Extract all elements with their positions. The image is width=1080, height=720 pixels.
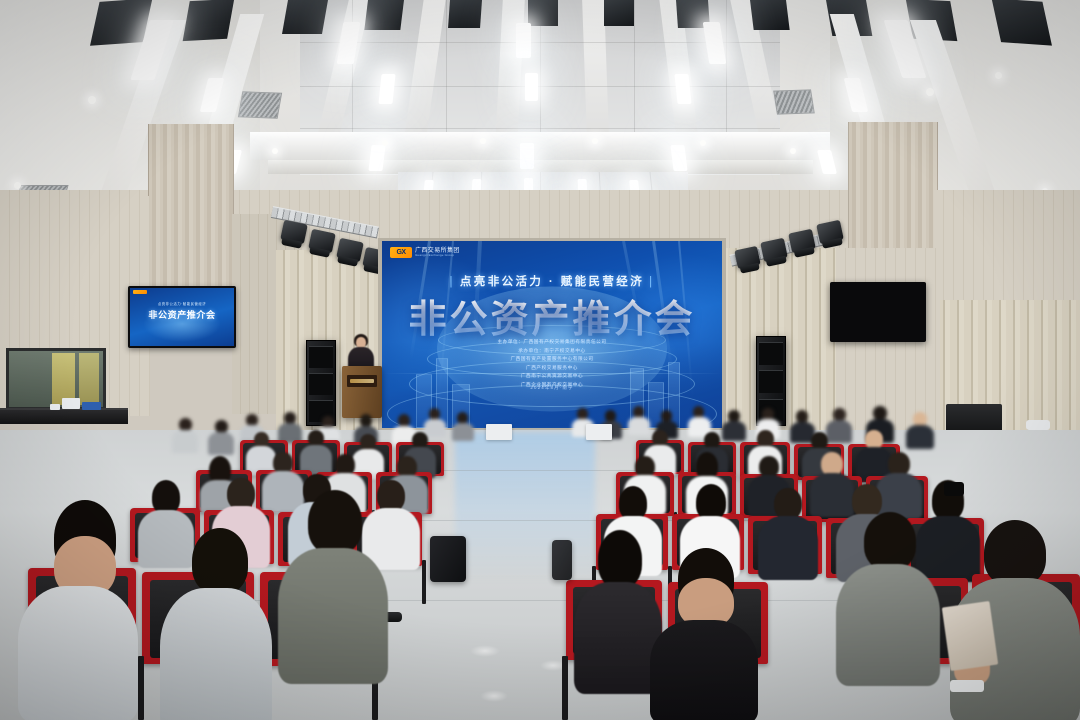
attendee	[160, 528, 272, 720]
stage-spotlight	[308, 229, 336, 254]
conference-hall-photo: GX 广西交易所集团 Guangxi Exchange Group |点亮非公活…	[0, 0, 1080, 720]
equipment-white-box	[50, 404, 60, 410]
ceiling-downlight	[382, 140, 388, 146]
acoustic-baffle	[750, 0, 790, 30]
wall-monitor-right	[830, 282, 926, 342]
attendee-body	[452, 423, 474, 441]
attendee-body	[208, 432, 234, 455]
acoustic-baffle	[992, 0, 1052, 46]
attendee	[172, 418, 198, 452]
ceiling-downlight	[88, 96, 96, 104]
led-stage-screen: GX 广西交易所集团 Guangxi Exchange Group |点亮非公活…	[382, 241, 722, 428]
speaker-driver	[309, 373, 334, 395]
acoustic-baffle	[448, 0, 482, 28]
attendee-head	[873, 406, 887, 420]
wall-monitor-left: 点亮非公活力·赋能民营经济 非公资产推介会	[128, 286, 236, 348]
attendee-body	[836, 564, 940, 686]
brand-name-en: Guangxi Exchange Group	[415, 254, 458, 257]
ceiling-panel-light	[520, 143, 534, 169]
attendee-hair	[864, 512, 916, 570]
seat-leg	[138, 656, 144, 720]
brand-mark-icon: GX	[390, 247, 412, 258]
attendee-hair	[192, 528, 248, 594]
attendee	[452, 412, 474, 440]
stage-spotlight	[734, 246, 760, 269]
attendee-body	[278, 548, 388, 684]
screen-brand-logo: GX 广西交易所集团 Guangxi Exchange Group	[390, 247, 460, 258]
attendee	[906, 412, 934, 448]
paper-document	[942, 601, 998, 671]
attendee-body	[650, 620, 758, 720]
screen-subtitle: 点亮非公活力 · 赋能民营经济	[460, 276, 644, 288]
attendee	[574, 530, 662, 690]
acoustic-baffle	[364, 0, 404, 30]
attendee-hair	[308, 490, 362, 554]
wall-monitor-left-screen: 点亮非公活力·赋能民营经济 非公资产推介会	[130, 288, 234, 346]
organizer-line: 广西南宁公共资源交易中心	[382, 372, 722, 380]
screen-title: 非公资产推介会	[382, 288, 722, 343]
speaker-driver	[759, 342, 784, 365]
air-vent	[773, 89, 815, 114]
window-pane	[79, 353, 100, 405]
wall-monitor-subtitle: 点亮非公活力·赋能民营经济	[130, 301, 234, 306]
control-room-window	[6, 348, 106, 410]
attendee-hair	[619, 486, 647, 520]
screen-subtitle-row: |点亮非公活力 · 赋能民营经济|	[382, 273, 722, 289]
attendee-body	[172, 430, 198, 453]
ceiling-downlight	[480, 138, 486, 144]
podium-logo-plate	[347, 375, 377, 386]
floor-specular-highlight	[480, 690, 508, 702]
ceiling-panel-light	[525, 73, 538, 101]
equipment-blue-box	[82, 402, 101, 410]
attendee	[278, 412, 302, 442]
ceiling-panel-light	[674, 74, 691, 104]
organizer-line: 广西国有资产处置服务中心有限公司	[382, 355, 722, 363]
subtitle-right-bar: |	[644, 276, 659, 288]
podium-logo-icon	[350, 379, 374, 383]
attendee-hair	[984, 520, 1046, 586]
attendee-body	[758, 516, 818, 580]
ceiling-panel-light	[516, 23, 531, 58]
attendee-hair	[152, 480, 180, 514]
ceiling-downlight	[995, 72, 1002, 79]
organizer-line: 广西产权交易服务中心	[382, 364, 722, 372]
stage-spotlight	[336, 238, 364, 263]
wall-monitor-title: 非公资产推介会	[130, 308, 234, 321]
acoustic-baffle	[604, 0, 634, 26]
attendee	[18, 500, 138, 720]
side-table	[486, 424, 512, 440]
attendee-body	[160, 588, 272, 720]
attendee-body	[906, 425, 934, 449]
stage-spotlight	[816, 220, 844, 245]
attendee	[278, 490, 388, 680]
ceiling-downlight	[272, 148, 278, 154]
ceiling-downlight	[790, 148, 796, 154]
ceiling-downlight	[926, 88, 934, 96]
acoustic-baffle	[183, 0, 235, 41]
ceiling-downlight	[592, 138, 598, 144]
luggage-bag	[430, 536, 466, 582]
seat-leg	[422, 560, 426, 604]
attendee	[836, 512, 940, 682]
back-control-table	[0, 408, 128, 424]
stage-spotlight	[760, 238, 788, 263]
acoustic-baffle	[528, 0, 558, 26]
screen-organizers: 主办单位：广西国有产权交易集团有限责任公司 承办单位：南宁产权交易中心 广西国有…	[382, 338, 722, 389]
speaker-driver	[309, 346, 334, 368]
ceiling-downlight	[700, 140, 706, 146]
hair-clip-accessory	[944, 482, 964, 496]
air-vent	[238, 91, 282, 118]
attendee-head	[913, 412, 927, 426]
screen-date-line: 2024年8月·南宁	[382, 385, 722, 391]
speaker-driver	[759, 370, 784, 393]
luggage-bag	[552, 540, 572, 580]
ceiling-beam	[250, 132, 830, 160]
seat-leg	[562, 656, 568, 720]
camera-tripod-head	[1026, 420, 1050, 430]
equipment-white-box	[62, 398, 80, 409]
floor-specular-highlight	[470, 645, 500, 657]
stage-spotlight	[788, 229, 816, 254]
mini-brand-mark-icon	[133, 290, 147, 294]
ceiling-downlight	[14, 182, 21, 189]
attendee-hair	[696, 484, 726, 520]
acoustic-baffle	[282, 0, 328, 34]
attendee	[208, 420, 234, 454]
attendee-body	[18, 586, 138, 720]
podium	[342, 366, 382, 418]
wristband	[950, 680, 984, 692]
attendee-hair	[598, 530, 642, 588]
side-table	[586, 424, 612, 440]
organizer-line: 承办单位：南宁产权交易中心	[382, 347, 722, 355]
attendee	[758, 488, 818, 578]
organizer-line: 主办单位：广西国有产权交易集团有限责任公司	[382, 338, 722, 346]
stage-spotlight	[280, 220, 308, 245]
attendee-body	[574, 582, 662, 694]
pa-speaker-left	[306, 340, 336, 426]
attendee	[650, 548, 758, 720]
subtitle-left-bar: |	[445, 276, 460, 288]
